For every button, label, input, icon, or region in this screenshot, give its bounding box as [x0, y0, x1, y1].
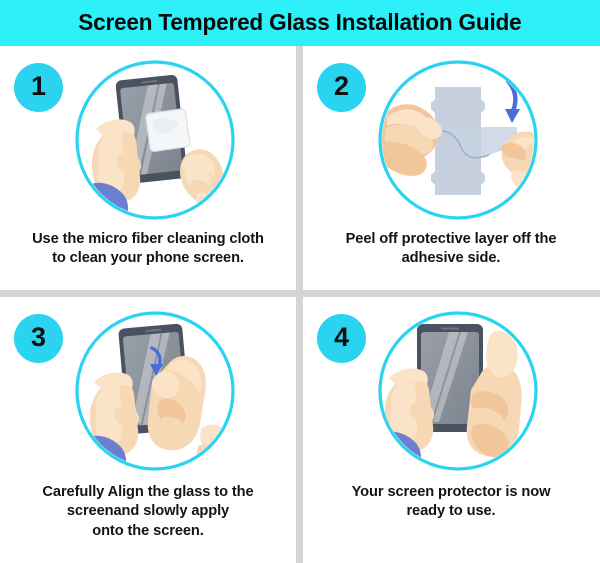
vertical-divider [296, 46, 303, 563]
header-bar: Screen Tempered Glass Installation Guide [0, 0, 600, 46]
step-illustration-4 [377, 310, 539, 472]
caption-line: Peel off protective layer off the [315, 229, 587, 248]
step-badge-4: 4 [317, 314, 366, 363]
step-number-label: 2 [334, 73, 349, 100]
step-caption-4: Your screen protector is now ready to us… [311, 482, 591, 521]
step-badge-3: 3 [14, 314, 63, 363]
step-panel-3: 3 [0, 298, 296, 563]
step-caption-1: Use the micro fiber cleaning cloth to cl… [8, 229, 288, 268]
step-badge-2: 2 [317, 63, 366, 112]
step-illustration-2 [377, 59, 539, 221]
caption-line: onto the screen. [12, 521, 284, 540]
caption-line: adhesive side. [315, 248, 587, 267]
step-number-label: 3 [31, 324, 46, 351]
step-caption-2: Peel off protective layer off the adhesi… [311, 229, 591, 268]
step-panel-1: 1 [0, 47, 296, 290]
caption-line: screenand slowly apply [12, 501, 284, 520]
step-caption-3: Carefully Align the glass to the screena… [8, 482, 288, 540]
hand-phone-thumbs-up-icon [377, 310, 539, 472]
step-badge-1: 1 [14, 63, 63, 112]
caption-line: ready to use. [315, 501, 587, 520]
hand-phone-cloth-icon [74, 59, 236, 221]
finger-aligning-glass-icon [74, 310, 236, 472]
step-illustration-3 [74, 310, 236, 472]
step-panel-4: 4 [303, 298, 599, 563]
caption-line: Carefully Align the glass to the [12, 482, 284, 501]
step-panel-2: 2 [303, 47, 599, 290]
caption-line: to clean your phone screen. [12, 248, 284, 267]
step-illustration-1 [74, 59, 236, 221]
step-number-label: 4 [334, 324, 349, 351]
page-title: Screen Tempered Glass Installation Guide [78, 11, 521, 35]
caption-line: Use the micro fiber cleaning cloth [12, 229, 284, 248]
step-number-label: 1 [31, 73, 46, 100]
two-hands-peeling-film-icon [377, 59, 539, 221]
caption-line: Your screen protector is now [315, 482, 587, 501]
horizontal-divider [0, 290, 600, 297]
installation-guide-infographic: Screen Tempered Glass Installation Guide… [0, 0, 600, 563]
